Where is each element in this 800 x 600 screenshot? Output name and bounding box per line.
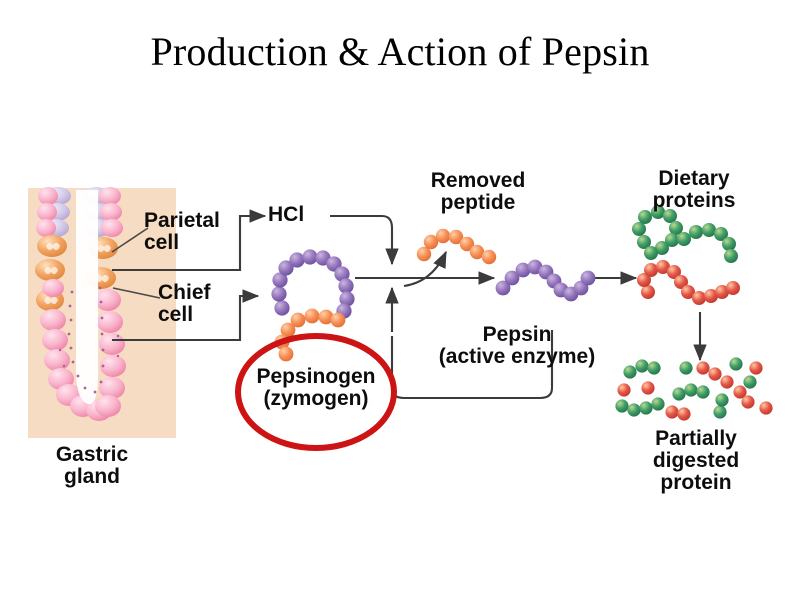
dietary-protein-red-chain: [637, 260, 740, 305]
label-hcl: HCl: [268, 204, 304, 226]
dietary-protein-green-chain: [632, 205, 738, 263]
label-chief-cell: Chief cell: [158, 282, 211, 326]
dietary-proteins-molecules: [632, 205, 740, 305]
label-parietal-cell: Parietal cell: [144, 210, 220, 254]
pepsinogen-molecule: [271, 249, 354, 361]
label-removed-peptide: Removed peptide: [414, 170, 542, 214]
label-gastric-gland: Gastric gland: [24, 444, 160, 488]
slide-canvas: Production & Action of Pepsin: [0, 0, 800, 600]
parietal-cell-orange-left: [35, 235, 67, 311]
label-pepsinogen: Pepsinogen (zymogen): [240, 366, 392, 410]
arrow-hcl-to-reaction: [330, 216, 392, 264]
pepsin-molecule: [496, 260, 596, 302]
label-pepsin: Pepsin (active enzyme): [422, 324, 612, 368]
removed-peptide-molecule: [417, 229, 496, 264]
pepsin-pathway-diagram: Parietal cell Chief cell HCl Pepsinogen …: [0, 160, 800, 520]
label-dietary-proteins: Dietary proteins: [626, 168, 762, 212]
label-partially-digested-protein: Partially digested protein: [622, 428, 770, 493]
partially-digested-fragments: [615, 357, 772, 420]
page-title: Production & Action of Pepsin: [0, 28, 800, 75]
